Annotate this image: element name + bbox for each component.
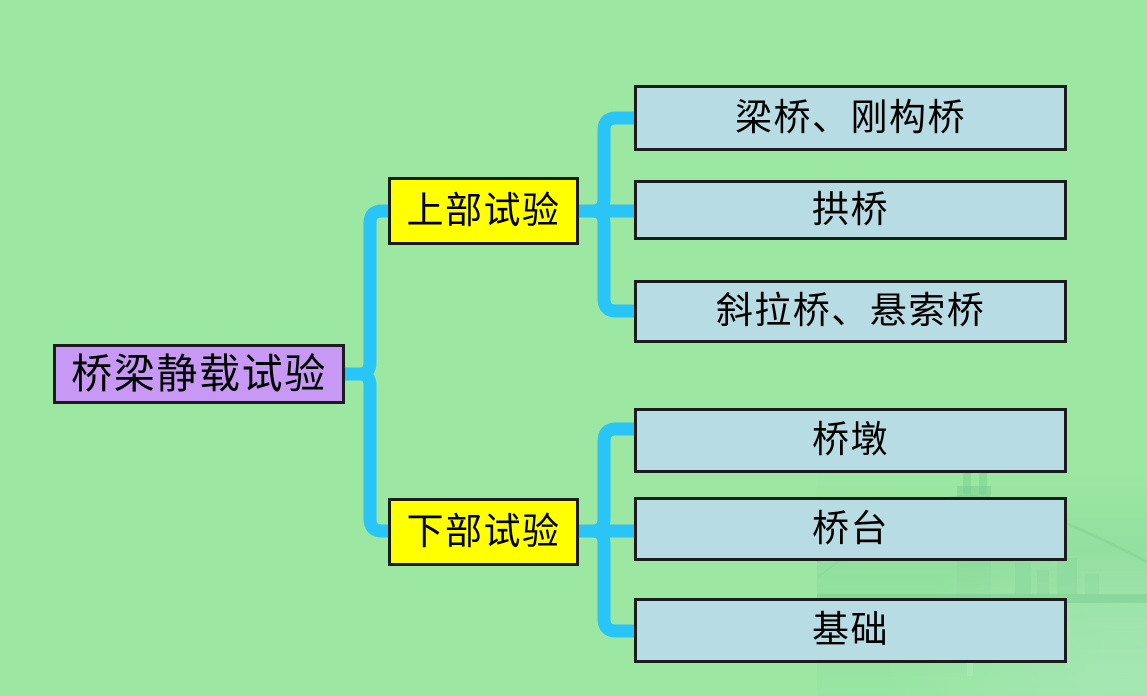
root-node-bridge-static-load-test[interactable]: 桥梁静载试验 — [53, 344, 345, 404]
leaf-node-arch-bridge[interactable]: 拱桥 — [634, 180, 1067, 240]
leaf-node-pier[interactable]: 桥墩 — [634, 408, 1067, 473]
leaf-node-cable-stayed-suspension-bridge[interactable]: 斜拉桥、悬索桥 — [634, 280, 1067, 343]
diagram-canvas: 桥梁静载试验 上部试验 下部试验 梁桥、刚构桥 拱桥 斜拉桥、悬索桥 桥墩 桥台… — [0, 0, 1147, 696]
branch-node-superstructure-test[interactable]: 上部试验 — [388, 177, 579, 245]
connector-root-to-upper — [345, 211, 391, 374]
leaf-node-abutment[interactable]: 桥台 — [634, 497, 1067, 561]
connector-lower-to-leaf3 — [576, 429, 636, 531]
leaf-node-foundation[interactable]: 基础 — [634, 598, 1067, 663]
connector-root-to-lower — [345, 374, 391, 531]
leaf-node-girder-rigid-frame-bridge[interactable]: 梁桥、刚构桥 — [634, 85, 1067, 151]
connector-upper-to-leaf0 — [576, 118, 636, 211]
connector-upper-to-leaf2 — [576, 211, 636, 311]
connector-lower-to-leaf5 — [576, 531, 636, 631]
branch-node-substructure-test[interactable]: 下部试验 — [388, 498, 579, 566]
